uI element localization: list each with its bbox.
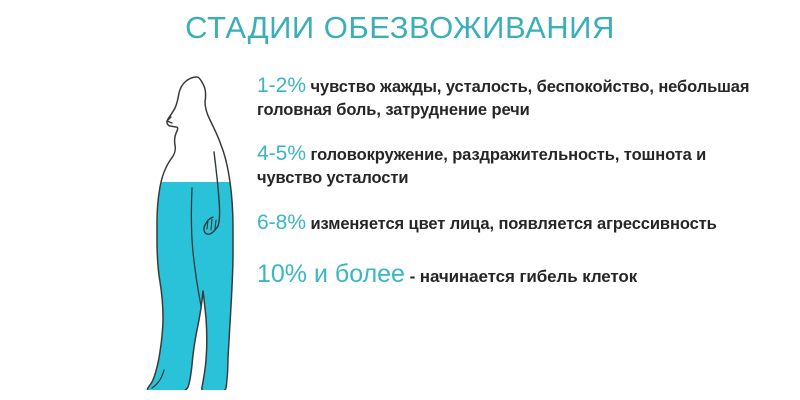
stage-list: 1-2% чувство жажды, усталость, беспокойс… — [257, 74, 767, 288]
dehydration-stages-infographic: СТАДИИ ОБЕЗВОЖИВАНИЯ — [0, 0, 800, 400]
human-figure-illustration — [140, 60, 260, 390]
page-title: СТАДИИ ОБЕЗВОЖИВАНИЯ — [0, 10, 800, 46]
stage-separator-4: - — [410, 267, 416, 286]
stage-description-4: начинается гибель клеток — [420, 267, 637, 286]
stage-percent-2: 4-5% — [257, 142, 306, 165]
stage-percent-3: 6-8% — [257, 211, 306, 234]
stage-description-3: изменяется цвет лица, появляется агресси… — [311, 215, 717, 233]
stage-percent-1: 1-2% — [257, 74, 306, 97]
stage-description-2: головокружение, раздражительность, тошно… — [257, 146, 706, 187]
water-level-fill — [140, 182, 260, 390]
stage-item-3: 6-8% изменяется цвет лица, появляется аг… — [257, 211, 767, 236]
stage-percent-4: 10% и более — [257, 260, 405, 288]
stage-item-2: 4-5% головокружение, раздражительность, … — [257, 142, 767, 190]
stage-description-1: чувство жажды, усталость, беспокойство, … — [257, 78, 749, 119]
stage-item-1: 1-2% чувство жажды, усталость, беспокойс… — [257, 74, 767, 122]
stage-item-4: 10% и более - начинается гибель клеток — [257, 263, 767, 288]
